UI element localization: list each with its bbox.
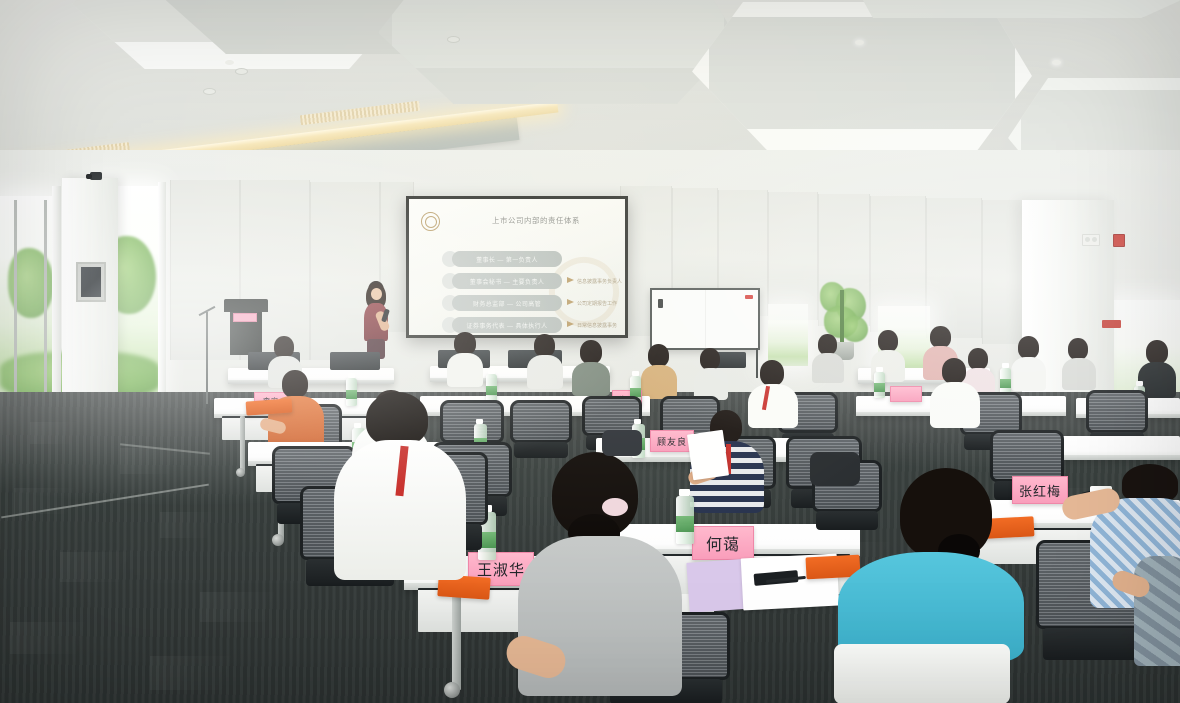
slide-bullet: 董事会秘书 — 主要负责人 — [452, 273, 562, 289]
glass-door-frame — [44, 200, 47, 400]
slide-surface: 上市公司内部的责任体系 董事长 — 第一负责人 董事会秘书 — 主要负责人 信息… — [409, 199, 625, 335]
desk-monitor — [330, 352, 380, 370]
name-placard-zhanghongmei: 张红梅 — [1012, 476, 1068, 504]
hair-clip — [602, 498, 628, 516]
roller-blind[interactable] — [926, 198, 982, 338]
task-chair[interactable] — [510, 400, 572, 458]
lectern — [224, 299, 268, 355]
glass-door-frame — [14, 200, 17, 400]
mobile-whiteboard — [650, 288, 760, 350]
roller-blind[interactable] — [768, 192, 818, 320]
seminar-room-photo: 上市公司内部的责任体系 董事长 — 第一负责人 董事会秘书 — 主要负责人 信息… — [0, 0, 1180, 703]
backpack — [810, 452, 860, 486]
name-placard — [890, 386, 922, 402]
name-placard-heai: 何蔼 — [692, 526, 754, 560]
slide-title: 上市公司内部的责任体系 — [461, 215, 611, 226]
company-emblem-icon — [421, 212, 440, 231]
desk-caster — [272, 534, 284, 546]
backpack — [602, 430, 642, 456]
water-bottle — [874, 372, 885, 398]
slide-note: 信息披露事务负责人 — [577, 278, 622, 285]
roller-blind[interactable] — [982, 200, 1024, 344]
ceiling-hex-panel — [378, 0, 738, 104]
mic-stand — [206, 312, 208, 404]
presenter — [358, 281, 392, 357]
hair — [366, 392, 428, 446]
slide-arrow-icon — [567, 277, 574, 283]
exit-sign — [1102, 320, 1121, 328]
ceiling-hex-panel — [692, 2, 1032, 150]
whiteboard-magnet — [658, 299, 663, 308]
emergency-light — [1082, 234, 1100, 246]
window-back-mid — [768, 304, 808, 366]
water-bottle — [1000, 368, 1011, 394]
water-bottle — [346, 378, 357, 406]
window-mullion — [52, 186, 61, 408]
desk-caster — [236, 468, 245, 477]
whiteboard-marker[interactable] — [745, 295, 753, 299]
hair — [1122, 464, 1178, 502]
desk-caster — [444, 682, 460, 698]
slide-bullet: 证券事务代表 — 具体执行人 — [452, 317, 562, 333]
slide-bullet: 财务总监部 — 公司高管 — [452, 295, 562, 311]
water-bottle — [676, 496, 694, 544]
projection-screen: 上市公司内部的责任体系 董事长 — 第一负责人 董事会秘书 — 主要负责人 信息… — [406, 196, 628, 338]
desk-leg — [452, 586, 461, 690]
fire-alarm-pull-station[interactable] — [1113, 234, 1125, 247]
water-bottle — [486, 374, 497, 402]
lectern-sign — [233, 313, 257, 322]
slide-arrow-icon — [567, 299, 574, 305]
slide-bullet: 董事长 — 第一负责人 — [452, 251, 562, 267]
presenter-face — [371, 288, 382, 300]
slide-arrow-icon — [567, 321, 574, 327]
slide-note: 公司定期报告工作 — [577, 300, 617, 307]
wall-control-panel[interactable] — [76, 262, 106, 302]
slide-note: 日常信息披露事务 — [577, 322, 617, 329]
handout-held — [687, 430, 729, 481]
desk-row-far-left — [228, 368, 394, 384]
security-camera — [90, 172, 102, 180]
whiteboard-leg — [756, 348, 758, 378]
window-mullion — [158, 182, 166, 408]
desk-leg — [240, 416, 245, 472]
top-white — [834, 644, 1010, 703]
